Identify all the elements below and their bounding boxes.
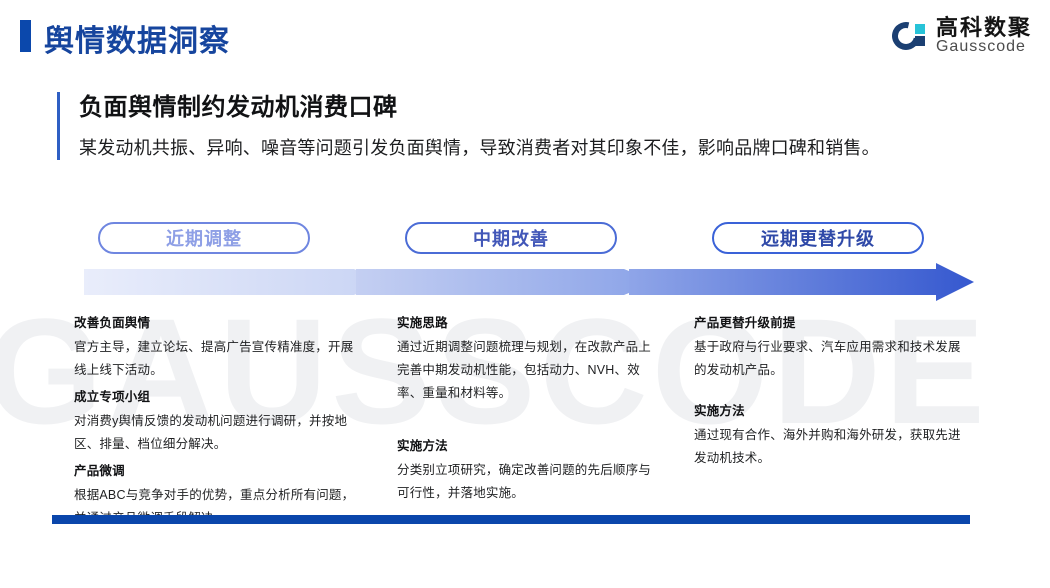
phase-pill-near-term[interactable]: 近期调整 — [98, 222, 310, 254]
logo-square-dark-icon — [915, 36, 925, 46]
timeline-arrow — [84, 263, 974, 301]
phase-pill-mid-term[interactable]: 中期改善 — [405, 222, 617, 254]
block-body: 通过近期调整问题梳理与规划，在改款产品上完善中期发动机性能，包括动力、NVH、效… — [397, 336, 662, 405]
column-spacer — [694, 386, 964, 400]
headline-text: 负面舆情制约发动机消费口碑 — [79, 92, 957, 123]
column-spacer — [397, 409, 662, 435]
block-title: 实施方法 — [397, 435, 662, 459]
block-title: 产品微调 — [74, 460, 359, 484]
logo-name-en: Gausscode — [936, 39, 1032, 56]
content-block: 成立专项小组 对消费y舆情反馈的发动机问题进行调研，并按地区、排量、档位细分解决… — [74, 386, 359, 456]
subheadline-text: 某发动机共振、异响、噪音等问题引发负面舆情，导致消费者对其印象不佳，影响品牌口碑… — [79, 136, 957, 160]
block-title: 实施思路 — [397, 312, 662, 336]
logo-square-accent-icon — [915, 24, 925, 34]
column-near-term: 改善负面舆情 官方主导，建立论坛、提高广告宣传精准度，开展线上线下活动。 成立专… — [74, 312, 359, 534]
timeline-arrow-icon — [84, 263, 974, 301]
block-title: 产品更替升级前提 — [694, 312, 964, 336]
slide-root: GAUSSCODE 舆情数据洞察 高科数聚 Gausscode 负面舆情制约发动… — [0, 0, 1050, 588]
block-body: 分类别立项研究，确定改善问题的先后顺序与可行性，并落地实施。 — [397, 459, 662, 505]
page-title: 舆情数据洞察 — [44, 16, 230, 60]
logo-name-cn: 高科数聚 — [936, 16, 1032, 39]
logo-wordmark: 高科数聚 Gausscode — [936, 16, 1032, 56]
content-block: 实施方法 通过现有合作、海外并购和海外研发，获取先进发动机技术。 — [694, 400, 964, 470]
gausscode-logo-icon — [892, 19, 926, 53]
column-mid-term: 实施思路 通过近期调整问题梳理与规划，在改款产品上完善中期发动机性能，包括动力、… — [397, 312, 662, 509]
content-block: 实施方法 分类别立项研究，确定改善问题的先后顺序与可行性，并落地实施。 — [397, 435, 662, 505]
block-body: 官方主导，建立论坛、提高广告宣传精准度，开展线上线下活动。 — [74, 336, 359, 382]
block-title: 改善负面舆情 — [74, 312, 359, 336]
block-body: 对消费y舆情反馈的发动机问题进行调研，并按地区、排量、档位细分解决。 — [74, 410, 359, 456]
brand-logo: 高科数聚 Gausscode — [892, 16, 1032, 56]
block-title: 成立专项小组 — [74, 386, 359, 410]
block-body: 通过现有合作、海外并购和海外研发，获取先进发动机技术。 — [694, 424, 964, 470]
content-block: 实施思路 通过近期调整问题梳理与规划，在改款产品上完善中期发动机性能，包括动力、… — [397, 312, 662, 405]
footer-bar — [52, 515, 970, 524]
block-body: 基于政府与行业要求、汽车应用需求和技术发展的发动机产品。 — [694, 336, 964, 382]
phase-pill-long-term[interactable]: 远期更替升级 — [712, 222, 924, 254]
heading-block: 负面舆情制约发动机消费口碑 某发动机共振、异响、噪音等问题引发负面舆情，导致消费… — [57, 92, 957, 160]
content-block: 产品更替升级前提 基于政府与行业要求、汽车应用需求和技术发展的发动机产品。 — [694, 312, 964, 382]
column-long-term: 产品更替升级前提 基于政府与行业要求、汽车应用需求和技术发展的发动机产品。 实施… — [694, 312, 964, 474]
phase-pill-label: 近期调整 — [166, 225, 242, 251]
content-block: 改善负面舆情 官方主导，建立论坛、提高广告宣传精准度，开展线上线下活动。 — [74, 312, 359, 382]
header-marker-icon — [20, 20, 31, 52]
phase-pill-label: 中期改善 — [473, 225, 549, 251]
block-title: 实施方法 — [694, 400, 964, 424]
phase-pill-label: 远期更替升级 — [761, 225, 875, 251]
